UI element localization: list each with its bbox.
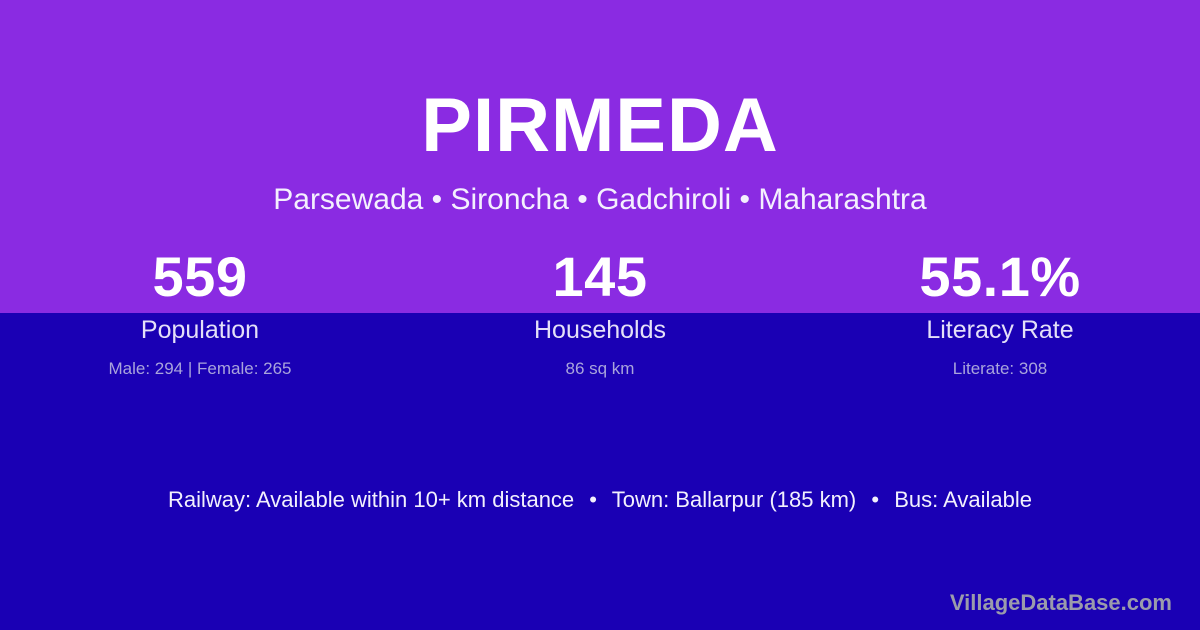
town-info: Town: Ballarpur (185 km) xyxy=(612,487,857,512)
bullet-separator-icon: • xyxy=(862,484,888,516)
stat-households: 145 Households 86 sq km xyxy=(400,243,800,381)
stats-row: 559 Population Male: 294 | Female: 265 1… xyxy=(0,243,1200,381)
railway-info: Railway: Available within 10+ km distanc… xyxy=(168,487,574,512)
stat-sublabel: 86 sq km xyxy=(400,357,800,381)
bus-info: Bus: Available xyxy=(894,487,1032,512)
stat-value: 559 xyxy=(0,243,400,311)
stat-sublabel: Literate: 308 xyxy=(800,357,1200,381)
bullet-separator-icon: • xyxy=(580,484,606,516)
page-title: PIRMEDA xyxy=(0,82,1200,170)
site-watermark: VillageDataBase.com xyxy=(950,588,1172,618)
stat-value: 145 xyxy=(400,243,800,311)
card-content: PIRMEDA Parsewada • Sironcha • Gadchirol… xyxy=(0,0,1200,630)
breadcrumb: Parsewada • Sironcha • Gadchiroli • Maha… xyxy=(0,180,1200,220)
stat-label: Population xyxy=(0,314,400,347)
village-info-card: PIRMEDA Parsewada • Sironcha • Gadchirol… xyxy=(0,0,1200,630)
stat-label: Literacy Rate xyxy=(800,314,1200,347)
stat-sublabel: Male: 294 | Female: 265 xyxy=(0,357,400,381)
stat-population: 559 Population Male: 294 | Female: 265 xyxy=(0,243,400,381)
stat-label: Households xyxy=(400,314,800,347)
stat-literacy-rate: 55.1% Literacy Rate Literate: 308 xyxy=(800,243,1200,381)
amenities-line: Railway: Available within 10+ km distanc… xyxy=(0,484,1200,516)
stat-value: 55.1% xyxy=(800,243,1200,311)
